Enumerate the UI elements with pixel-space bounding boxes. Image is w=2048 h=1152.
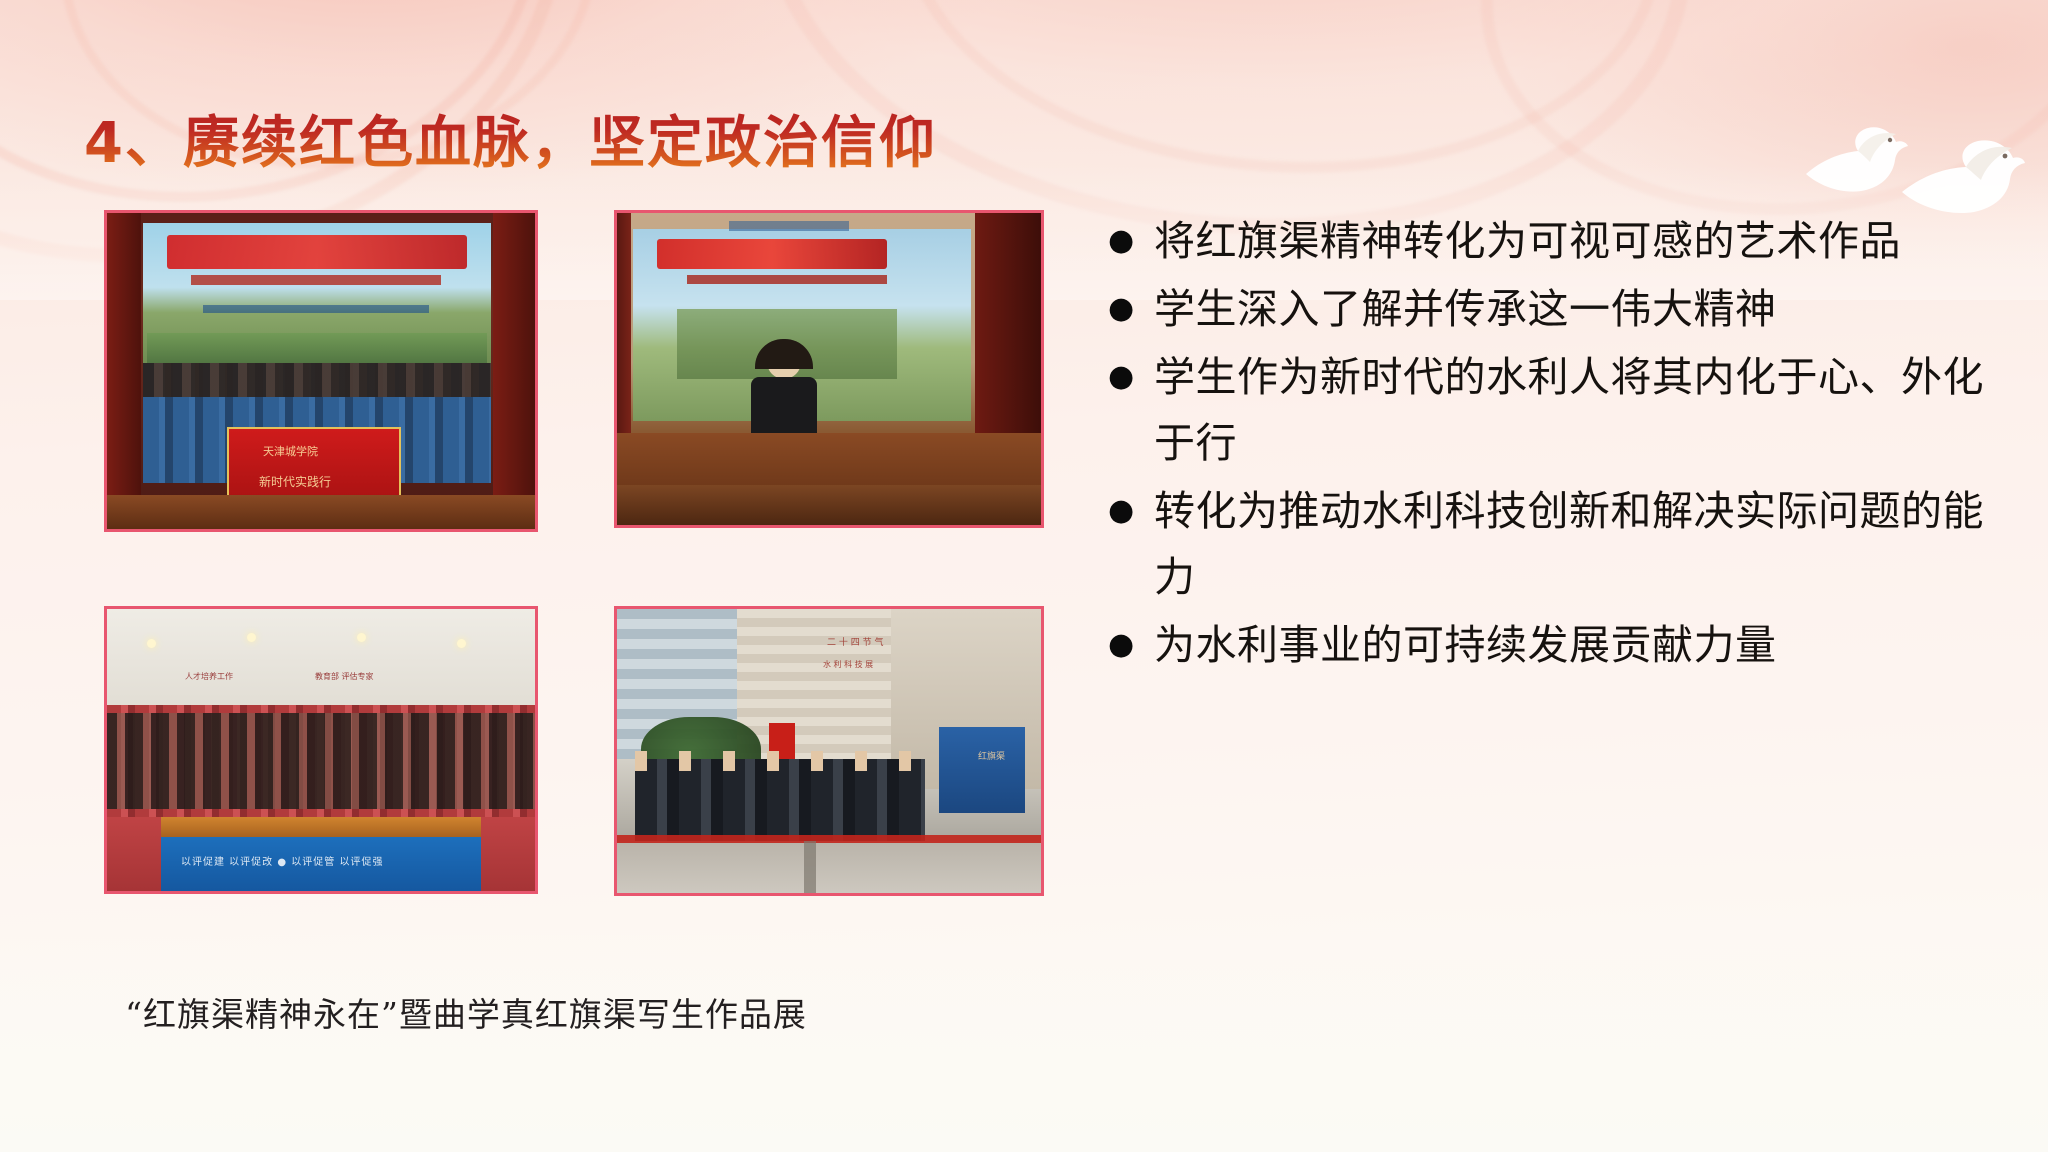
- bullet-dot-icon: ●: [1108, 208, 1154, 274]
- photo-group-outdoor[interactable]: 二 十 四 节 气 水 利 科 技 展 红旗渠: [614, 606, 1044, 896]
- bullet-text: 学生深入了解并传承这一伟大精神: [1154, 276, 1988, 342]
- bullet-text: 学生作为新时代的水利人将其内化于心、外化于行: [1154, 344, 1988, 476]
- bullet-dot-icon: ●: [1108, 478, 1154, 544]
- photo-students-banner[interactable]: 天津城学院 新时代实践行: [104, 210, 538, 532]
- list-item: ● 学生作为新时代的水利人将其内化于心、外化于行: [1108, 344, 1988, 476]
- bullet-text: 将红旗渠精神转化为可视可感的艺术作品: [1154, 208, 1988, 274]
- bullet-dot-icon: ●: [1108, 612, 1154, 678]
- page-title: 4、赓续红色血脉，坚定政治信仰: [84, 98, 937, 179]
- list-item: ● 学生深入了解并传承这一伟大精神: [1108, 276, 1988, 342]
- dove-left-icon: [1800, 120, 1910, 198]
- bullet-text: 转化为推动水利科技创新和解决实际问题的能力: [1154, 478, 1988, 610]
- list-item: ● 转化为推动水利科技创新和解决实际问题的能力: [1108, 478, 1988, 610]
- list-item: ● 将红旗渠精神转化为可视可感的艺术作品: [1108, 208, 1988, 274]
- photo-auditorium-audience[interactable]: 人才培养工作 教育部 评估专家 以评促建 以评促改 ● 以评促管 以评促强: [104, 606, 538, 894]
- photo-grid-caption: “红旗渠精神永在”暨曲学真红旗渠写生作品展: [86, 988, 846, 1036]
- bullet-list: ● 将红旗渠精神转化为可视可感的艺术作品 ● 学生深入了解并传承这一伟大精神 ●…: [1108, 208, 1988, 680]
- bullet-text: 为水利事业的可持续发展贡献力量: [1154, 612, 1988, 678]
- bullet-dot-icon: ●: [1108, 276, 1154, 342]
- list-item: ● 为水利事业的可持续发展贡献力量: [1108, 612, 1988, 678]
- bullet-dot-icon: ●: [1108, 344, 1154, 410]
- decor-bottom-veil: [0, 922, 2048, 1152]
- photo-speaker-stage[interactable]: [614, 210, 1044, 528]
- slide-canvas: 4、赓续红色血脉，坚定政治信仰: [0, 0, 2048, 1152]
